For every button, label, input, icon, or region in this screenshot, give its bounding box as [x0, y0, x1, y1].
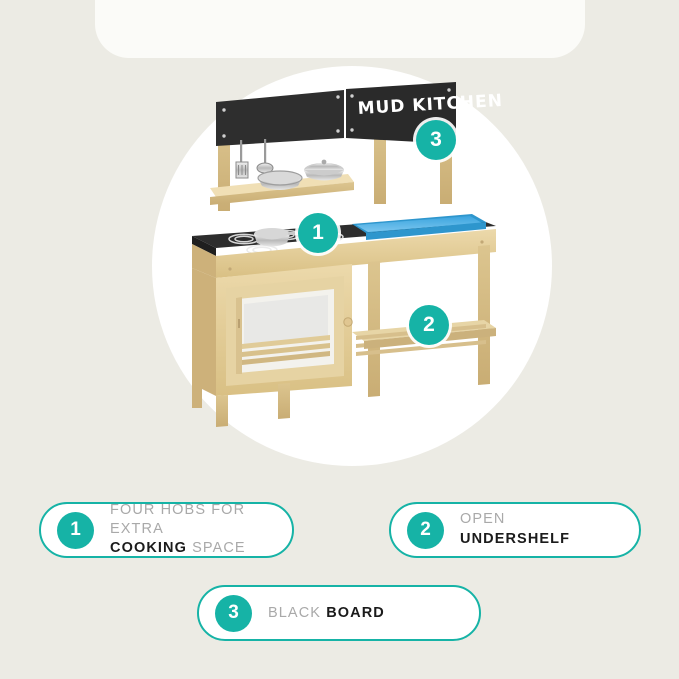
feature-number-2: 2: [407, 512, 444, 549]
hero-pin-2[interactable]: 2: [409, 305, 449, 345]
feature-2-bold: UNDERSHELF: [460, 531, 570, 547]
feature-text-3: BLACK BOARD: [268, 603, 385, 623]
feature-2-line1: OPEN: [460, 510, 570, 529]
feature-1-line2-tail: SPACE: [187, 540, 246, 556]
hero-pin-1[interactable]: 1: [298, 213, 338, 253]
hero-pin-3[interactable]: 3: [416, 120, 456, 160]
feature-card-1[interactable]: 1 FOUR HOBS FOR EXTRA COOKING SPACE: [39, 502, 294, 558]
feature-1-line1: FOUR HOBS FOR EXTRA: [110, 501, 276, 538]
feature-text-1: FOUR HOBS FOR EXTRA COOKING SPACE: [110, 501, 276, 559]
feature-number-1: 1: [57, 512, 94, 549]
feature-text-2: OPEN UNDERSHELF: [460, 510, 570, 549]
feature-number-3: 3: [215, 595, 252, 632]
feature-card-3[interactable]: 3 BLACK BOARD: [197, 585, 481, 641]
feature-card-2[interactable]: 2 OPEN UNDERSHELF: [389, 502, 641, 558]
feature-3-bold: BOARD: [326, 605, 385, 621]
feature-3-line2-head: BLACK: [268, 605, 326, 621]
header-panel: Extra Features: [95, 0, 585, 58]
product-illustration: MUD KITCHEN: [152, 66, 552, 466]
infographic-stage: Extra Features: [0, 0, 679, 679]
feature-1-bold: COOKING: [110, 540, 187, 556]
